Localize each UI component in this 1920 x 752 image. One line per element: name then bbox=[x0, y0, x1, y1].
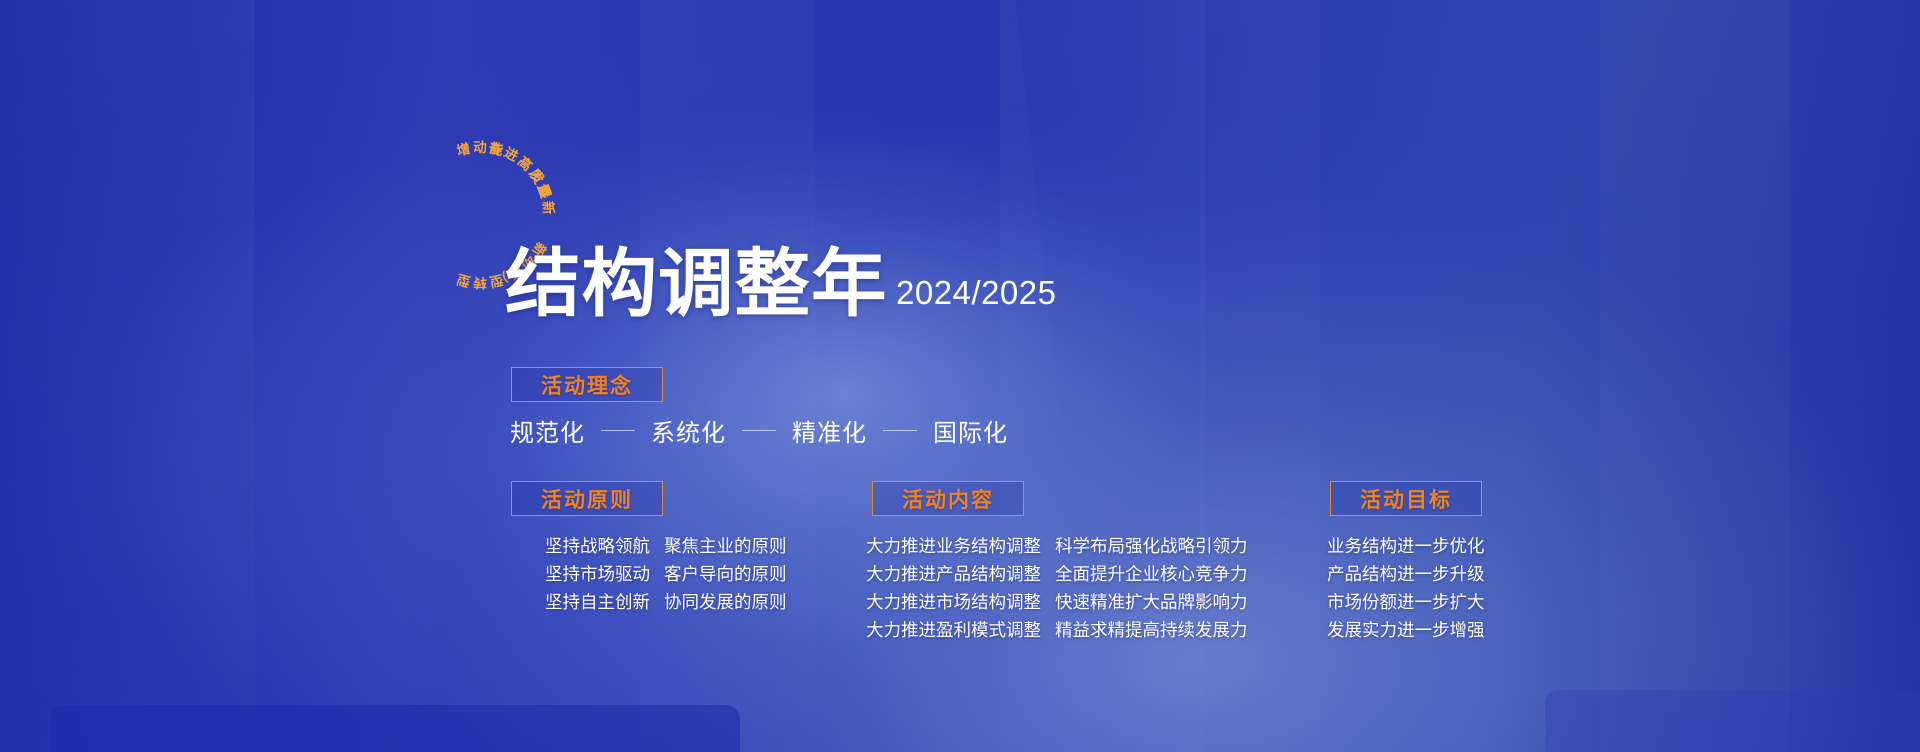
column-content: 大力推进业务结构调整 科学布局强化战略引领力 大力推进产品结构调整 全面提升企业… bbox=[866, 533, 1248, 645]
list-item: 市场份额进一步扩大 bbox=[1327, 589, 1485, 617]
list-item-left: 业务结构进一步优化 bbox=[1327, 533, 1485, 561]
decor-rect-3 bbox=[1545, 690, 1920, 752]
title-row: 结构调整年 2024/2025 bbox=[505, 248, 1057, 321]
list-item-left: 大力推进业务结构调整 bbox=[866, 533, 1041, 561]
list-item-left: 大力推进市场结构调整 bbox=[866, 589, 1041, 617]
concept-item-0: 规范化 bbox=[510, 413, 585, 448]
list-item-left: 大力推进产品结构调整 bbox=[866, 561, 1041, 589]
badge-concept[interactable]: 活动理念 bbox=[511, 367, 663, 402]
badge-content-label: 活动内容 bbox=[902, 484, 994, 514]
list-item: 坚持战略领航 聚焦主业的原则 bbox=[545, 533, 787, 561]
badge-goals-label: 活动目标 bbox=[1360, 484, 1452, 514]
list-item-left: 市场份额进一步扩大 bbox=[1327, 589, 1485, 617]
concept-items-row: 规范化 系统化 精准化 国际化 bbox=[510, 413, 1008, 448]
list-item: 大力推进业务结构调整 科学布局强化战略引领力 bbox=[866, 533, 1248, 561]
concept-item-3: 国际化 bbox=[933, 413, 1008, 448]
list-item: 业务结构进一步优化 bbox=[1327, 533, 1485, 561]
list-item: 大力推进市场结构调整 快速精准扩大品牌影响力 bbox=[866, 589, 1248, 617]
background-band bbox=[640, 0, 815, 752]
list-item: 大力推进盈利模式调整 精益求精提高持续发展力 bbox=[866, 617, 1248, 645]
list-item: 产品结构进一步升级 bbox=[1327, 561, 1485, 589]
principles-list: 坚持战略领航 聚焦主业的原则 坚持市场驱动 客户导向的原则 坚持自主创新 协同发… bbox=[545, 533, 787, 617]
list-item-right: 科学布局强化战略引领力 bbox=[1055, 533, 1248, 561]
list-item-right: 协同发展的原则 bbox=[664, 589, 787, 617]
concept-separator-icon bbox=[742, 430, 776, 432]
list-item-left: 坚持市场驱动 bbox=[545, 561, 650, 589]
list-item: 大力推进产品结构调整 全面提升企业核心竞争力 bbox=[866, 561, 1248, 589]
concept-item-1: 系统化 bbox=[651, 413, 726, 448]
page-title: 结构调整年 bbox=[505, 248, 888, 321]
decor-rect-1 bbox=[50, 705, 740, 752]
column-goals: 业务结构进一步优化 产品结构进一步升级 市场份额进一步扩大 发展实力进一步增强 bbox=[1327, 533, 1485, 645]
concept-item-2: 精准化 bbox=[792, 413, 867, 448]
list-item-right: 精益求精提高持续发展力 bbox=[1055, 617, 1248, 645]
badge-content[interactable]: 活动内容 bbox=[872, 481, 1024, 516]
list-item-left: 坚持战略领航 bbox=[545, 533, 650, 561]
list-item-left: 坚持自主创新 bbox=[545, 589, 650, 617]
column-principles: 坚持战略领航 聚焦主业的原则 坚持市场驱动 客户导向的原则 坚持自主创新 协同发… bbox=[545, 533, 787, 617]
list-item-right: 快速精准扩大品牌影响力 bbox=[1055, 589, 1248, 617]
list-item-left: 发展实力进一步增强 bbox=[1327, 617, 1485, 645]
badge-principles[interactable]: 活动原则 bbox=[511, 481, 663, 516]
list-item: 发展实力进一步增强 bbox=[1327, 617, 1485, 645]
list-item-right: 客户导向的原则 bbox=[664, 561, 787, 589]
background-band bbox=[1600, 0, 1790, 752]
ring-text-bottom2: 型转型 bbox=[453, 271, 505, 292]
ring-text-bottom2-path: 型转型 bbox=[453, 271, 505, 292]
badge-concept-label: 活动理念 bbox=[541, 370, 633, 400]
list-item: 坚持市场驱动 客户导向的原则 bbox=[545, 561, 787, 589]
goals-list: 业务结构进一步优化 产品结构进一步升级 市场份额进一步扩大 发展实力进一步增强 bbox=[1327, 533, 1485, 645]
list-item-left: 产品结构进一步升级 bbox=[1327, 561, 1485, 589]
badge-goals[interactable]: 活动目标 bbox=[1330, 481, 1482, 516]
badge-principles-label: 活动原则 bbox=[541, 484, 633, 514]
list-item-right: 聚焦主业的原则 bbox=[664, 533, 787, 561]
list-item-left: 大力推进盈利模式调整 bbox=[866, 617, 1041, 645]
content-list: 大力推进业务结构调整 科学布局强化战略引领力 大力推进产品结构调整 全面提升企业… bbox=[866, 533, 1248, 645]
background-band bbox=[0, 0, 255, 752]
list-item-right: 全面提升企业核心竞争力 bbox=[1055, 561, 1248, 589]
title-years: 2024/2025 bbox=[896, 274, 1057, 312]
concept-separator-icon bbox=[601, 430, 635, 432]
list-item: 坚持自主创新 协同发展的原则 bbox=[545, 589, 787, 617]
banner-root: 增动能 奋进高质量 发展新征程 新动能) 型转型 结构调整年 2024/2025… bbox=[0, 0, 1920, 752]
concept-separator-icon bbox=[883, 430, 917, 432]
